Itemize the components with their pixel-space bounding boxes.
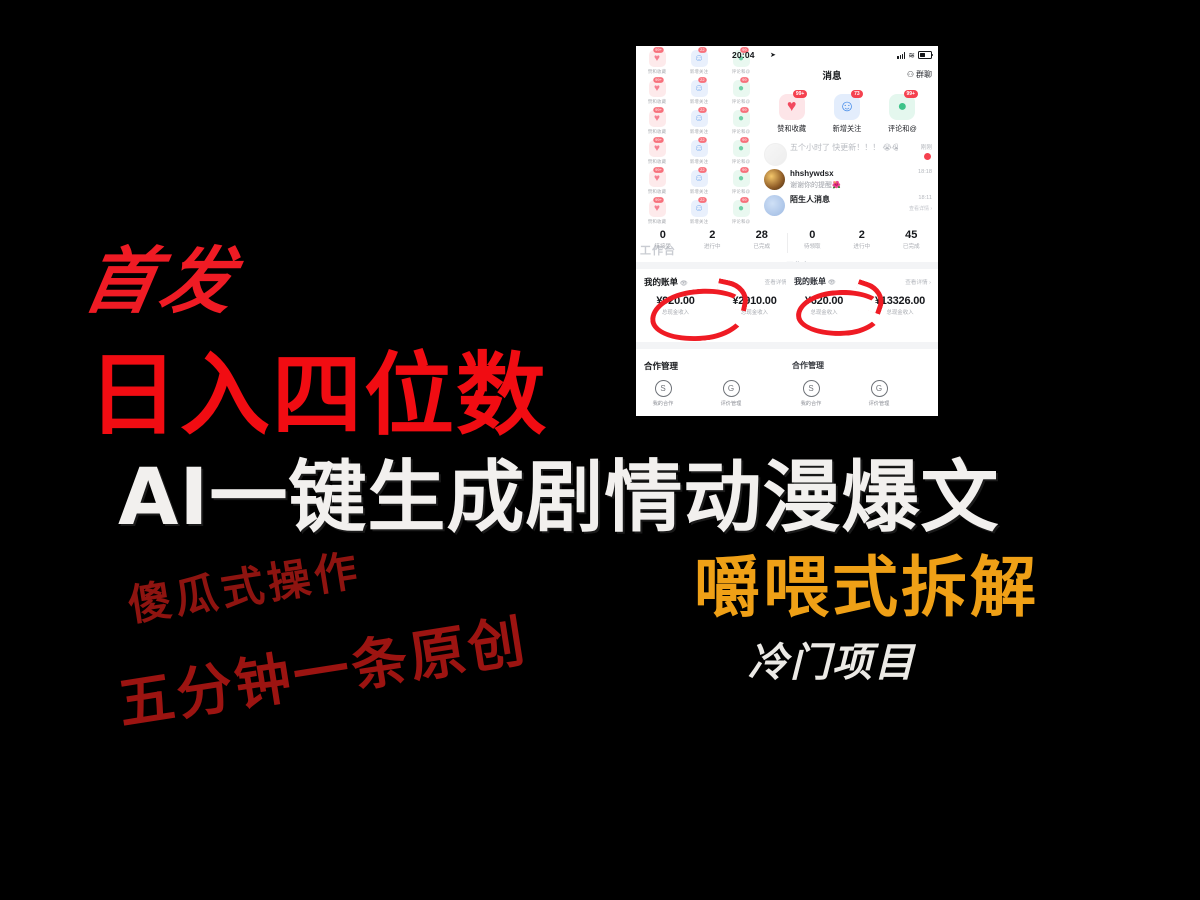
message-name: 陌生人消息 (790, 194, 898, 206)
ghost-icon-cell: ●99评论和@ (724, 170, 758, 195)
wifi-icon: ≋ (908, 52, 915, 59)
ghost-icon-label: 评论和@ (724, 159, 758, 165)
stats-row: 0待接受2进行中28已完成0待领取2进行中45已完成 (638, 228, 936, 258)
coop-title-right: 合作管理 (792, 360, 824, 371)
ghost-icon-cell: ☺22新增关注 (682, 50, 716, 75)
ghost-badge: 22 (698, 137, 706, 143)
poster-canvas: ♥99+赞和收藏☺22新增关注●99评论和@♥99+赞和收藏☺22新增关注●99… (0, 0, 1200, 900)
coop-item[interactable]: G评价管理 (712, 380, 750, 407)
person-icon: ☺22 (691, 200, 708, 217)
status-bar: 20:04 ➤ ≋ (732, 50, 932, 64)
ghost-icon-cell: ♥99+赞和收藏 (640, 50, 674, 75)
person-icon: ☺22 (691, 50, 708, 67)
message-name: 五个小时了 快更新！！！ 😭😭😭 (790, 142, 898, 154)
unread-dot (924, 153, 931, 160)
stat-value: 0 (788, 228, 838, 243)
ghost-icon-cell: ☺22新增关注 (682, 200, 716, 225)
message-body: 陌生人消息 (790, 194, 898, 206)
cooperation-section: 合作管理 S我的合作G评价管理 合作管理 S我的合作G评价管理 (636, 342, 938, 416)
ghost-icon-label: 评论和@ (724, 219, 758, 225)
star-circle-icon: G (723, 380, 740, 397)
ghost-icon-label: 赞和收藏 (640, 69, 674, 75)
stat-label: 进行中 (688, 243, 738, 252)
ghost-badge: 99 (740, 107, 748, 113)
stat-value: 45 (887, 228, 937, 243)
comment-icon: ●99 (733, 200, 750, 217)
bill-title-right: 我的账单👁 (794, 276, 836, 287)
ghost-icon-cell: ●99评论和@ (724, 80, 758, 105)
badge-text: 首发 (77, 222, 248, 327)
group-chat-label: 群聊 (916, 69, 932, 80)
message-name: hhshywdsx (790, 168, 898, 180)
action-label: 赞和收藏 (764, 124, 819, 134)
action-icon-row: ♥99+赞和收藏☺73新增关注●99+评论和@ (764, 94, 930, 134)
ghost-badge: 99 (740, 167, 748, 173)
ghost-icon-label: 赞和收藏 (640, 99, 674, 105)
ghost-icon-cell: ♥99+赞和收藏 (640, 170, 674, 195)
message-list-item[interactable]: 五个小时了 快更新！！！ 😭😭😭刚刚 (764, 142, 932, 168)
stat-item[interactable]: 45已完成 (887, 228, 937, 258)
stat-label: 进行中 (837, 243, 887, 252)
ghost-badge: 99+ (654, 47, 665, 53)
ghost-icon-cell: ●99评论和@ (724, 140, 758, 165)
ghost-icon-label: 赞和收藏 (640, 129, 674, 135)
message-time: 刚刚 (921, 143, 932, 151)
ghost-icon-cell: ●99评论和@ (724, 110, 758, 135)
ghost-badge: 99+ (654, 137, 665, 143)
message-body: hhshywdsx谢谢你的提醒🌺 (790, 168, 898, 191)
status-indicators: ≋ (897, 51, 932, 59)
message-list-item[interactable]: 陌生人消息18:11查看详情 › (764, 194, 932, 220)
note-top-text: 傻瓜式操作 (123, 536, 365, 634)
signal-bars-icon (897, 52, 905, 59)
ghost-icon-cell: ☺22新增关注 (682, 140, 716, 165)
comment-icon: ●99 (733, 170, 750, 187)
phone-header: 消息 ⚇ 群聊 (732, 68, 932, 82)
ghost-badge: 99+ (654, 167, 665, 173)
message-preview: 谢谢你的提醒🌺 (790, 180, 898, 191)
action-person[interactable]: ☺73新增关注 (819, 94, 874, 134)
ghost-icon-label: 赞和收藏 (640, 159, 674, 165)
badge-count: 73 (851, 90, 863, 98)
comment-icon: ●99 (733, 140, 750, 157)
ghost-icon-cell: ♥99+赞和收藏 (640, 200, 674, 225)
coop-item[interactable]: S我的合作 (792, 380, 830, 407)
stat-item[interactable]: 2进行中 (688, 228, 738, 258)
headline-text: 日入四位数 (88, 322, 548, 452)
battery-icon (918, 51, 932, 59)
bill-section: 我的账单👁 查看详情 ¥920.00总现金收入¥2910.00总现金收入 我的账… (636, 269, 938, 337)
ghost-icon-label: 新增关注 (682, 99, 716, 105)
people-icon: ⚇ (907, 70, 914, 79)
location-arrow-icon: ➤ (770, 51, 776, 59)
subheadline-text: AI一键生成剧情动漫爆文 (118, 435, 999, 547)
status-time: 20:04 (732, 50, 755, 60)
stat-value: 2 (688, 228, 738, 243)
ghost-badge: 99+ (654, 197, 665, 203)
stat-label: 已完成 (737, 243, 787, 252)
eye-icon[interactable]: 👁 (680, 281, 688, 287)
ghost-icon-row: ♥99+赞和收藏☺22新增关注●99评论和@ (640, 110, 758, 135)
coop-item-label: 评价管理 (712, 400, 750, 407)
stat-value: 28 (737, 228, 787, 243)
coop-item-label: 评价管理 (860, 400, 898, 407)
badge-count: 99+ (793, 90, 807, 98)
ghost-badge: 22 (698, 107, 706, 113)
stat-item[interactable]: 2进行中 (837, 228, 887, 258)
coop-item[interactable]: S我的合作 (644, 380, 682, 407)
ghost-badge: 99+ (654, 77, 665, 83)
ghost-icon-label: 新增关注 (682, 69, 716, 75)
avatar (764, 169, 785, 190)
ghost-icon-label: 新增关注 (682, 159, 716, 165)
bill-more-left[interactable]: 查看详情 (765, 278, 787, 286)
ghost-icon-cell: ♥99+赞和收藏 (640, 140, 674, 165)
ghost-icon-label: 评论和@ (724, 99, 758, 105)
ghost-icon-label: 赞和收藏 (640, 189, 674, 195)
ghost-icon-label: 新增关注 (682, 219, 716, 225)
bill-title-left: 我的账单👁 (644, 276, 688, 288)
ghost-icon-label: 评论和@ (724, 189, 758, 195)
ghost-badge: 22 (698, 197, 706, 203)
avatar (764, 143, 787, 166)
stat-value: 0 (638, 228, 688, 243)
handshake-icon: S (803, 380, 820, 397)
heart-icon: ♥99+ (649, 50, 666, 67)
feature-text: 嚼喂式拆解 (694, 534, 1039, 630)
coop-item[interactable]: G评价管理 (860, 380, 898, 407)
message-extra[interactable]: 查看详情 › (909, 205, 932, 212)
person-icon: ☺22 (691, 80, 708, 97)
message-list: 五个小时了 快更新！！！ 😭😭😭刚刚hhshywdsx谢谢你的提醒🌺18:18陌… (764, 142, 932, 220)
ghost-icon-cell: ☺22新增关注 (682, 110, 716, 135)
action-heart[interactable]: ♥99+赞和收藏 (764, 94, 819, 134)
ghost-icon-cell: ♥99+赞和收藏 (640, 110, 674, 135)
ghost-badge: 22 (698, 77, 706, 83)
heart-icon: ♥99+ (649, 110, 666, 127)
heart-icon: ♥99+ (649, 80, 666, 97)
avatar (764, 195, 785, 216)
ghost-badge: 22 (698, 167, 706, 173)
star-circle-icon: G (871, 380, 888, 397)
message-time: 18:18 (918, 169, 932, 175)
person-icon: ☺22 (691, 140, 708, 157)
heart-icon: ♥99+ (649, 200, 666, 217)
stat-label: 已完成 (887, 243, 937, 252)
ghost-icon-row: ♥99+赞和收藏☺22新增关注●99评论和@ (640, 80, 758, 105)
ghost-badge: 99+ (654, 107, 665, 113)
ghost-icon-label: 新增关注 (682, 189, 716, 195)
person-icon: ☺22 (691, 110, 708, 127)
heart-icon: ♥99+ (649, 170, 666, 187)
ghost-icon-label: 赞和收藏 (640, 219, 674, 225)
group-chat-button[interactable]: ⚇ 群聊 (907, 69, 932, 80)
heart-icon: ♥99+ (649, 140, 666, 157)
eye-icon[interactable]: 👁 (828, 280, 836, 286)
ghost-icon-row: ♥99+赞和收藏☺22新增关注●99评论和@ (640, 170, 758, 195)
ghost-icon-label: 新增关注 (682, 129, 716, 135)
ghost-badge: 99 (740, 197, 748, 203)
tag-text: 冷门项目 (748, 630, 916, 688)
ghost-icon-row: ♥99+赞和收藏☺22新增关注●99评论和@ (640, 140, 758, 165)
badge-count: 99+ (904, 90, 918, 98)
section-divider (636, 262, 938, 269)
action-label: 新增关注 (819, 124, 874, 134)
message-time: 18:11 (918, 195, 932, 201)
ghost-icon-row: ♥99+赞和收藏☺22新增关注●99评论和@ (640, 200, 758, 225)
bill-more-right[interactable]: 查看详情 › (905, 278, 931, 286)
ghost-icon-cell: ☺22新增关注 (682, 80, 716, 105)
handshake-icon: S (655, 380, 672, 397)
ghost-icon-label: 评论和@ (724, 129, 758, 135)
action-label: 评论和@ (875, 124, 930, 134)
ghost-icon-cell: ☺22新增关注 (682, 170, 716, 195)
coop-items-left: S我的合作G评价管理 (644, 380, 750, 407)
comment-icon: ●99 (733, 80, 750, 97)
message-list-item[interactable]: hhshywdsx谢谢你的提醒🌺18:18 (764, 168, 932, 194)
coop-items-right: S我的合作G评价管理 (792, 380, 898, 407)
coop-title-left: 合作管理 (644, 360, 678, 372)
stat-item[interactable]: 28已完成 (737, 228, 787, 258)
phone-screen: ♥99+赞和收藏☺22新增关注●99评论和@♥99+赞和收藏☺22新增关注●99… (636, 46, 938, 416)
phone-screenshot: ♥99+赞和收藏☺22新增关注●99评论和@♥99+赞和收藏☺22新增关注●99… (636, 46, 938, 416)
ghost-badge: 99 (740, 137, 748, 143)
coop-item-label: 我的合作 (792, 400, 830, 407)
comment-icon: ●99 (733, 110, 750, 127)
page-title: 消息 (822, 68, 841, 82)
person-icon: ☺22 (691, 170, 708, 187)
stat-value: 2 (837, 228, 887, 243)
action-comment[interactable]: ●99+评论和@ (875, 94, 930, 134)
coop-item-label: 我的合作 (644, 400, 682, 407)
stat-item[interactable]: 0待接受 (638, 228, 688, 258)
stat-label: 待领取 (788, 243, 838, 252)
message-body: 五个小时了 快更新！！！ 😭😭😭 (790, 142, 898, 154)
ghost-icon-cell: ♥99+赞和收藏 (640, 80, 674, 105)
ghost-badge: 22 (698, 47, 706, 53)
stat-item[interactable]: 0待领取 (788, 228, 838, 258)
ghost-icon-cell: ●99评论和@ (724, 200, 758, 225)
stat-label: 待接受 (638, 243, 688, 252)
